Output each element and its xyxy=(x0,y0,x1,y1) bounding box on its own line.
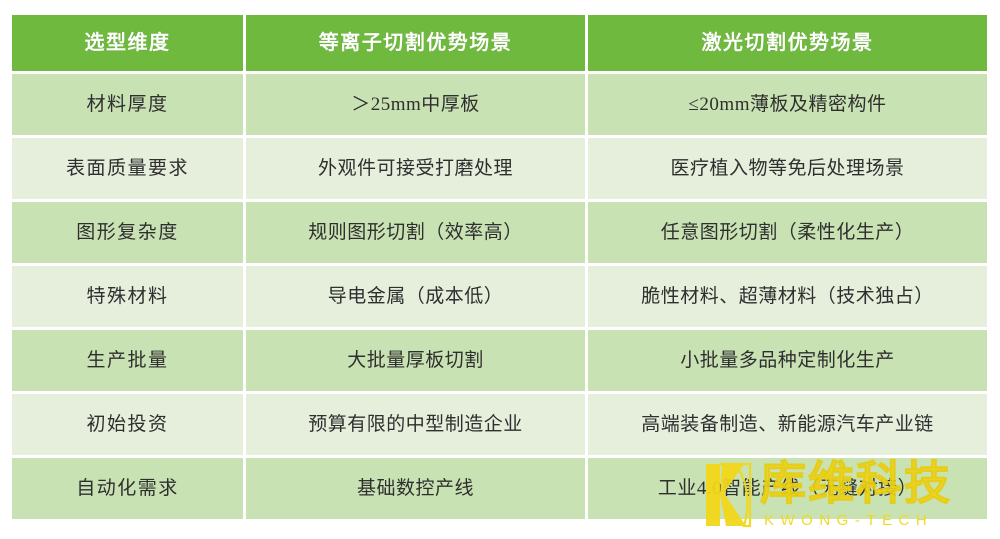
cell-plasma: 导电金属（成本低） xyxy=(246,266,585,327)
table-body: 材料厚度 ＞25mm中厚板 ≤20mm薄板及精密构件 表面质量要求 外观件可接受… xyxy=(12,74,987,519)
cell-plasma: 规则图形切割（效率高） xyxy=(246,202,585,263)
table-header: 选型维度 等离子切割优势场景 激光切割优势场景 xyxy=(12,15,987,71)
cell-dimension: 自动化需求 xyxy=(12,458,243,519)
cell-plasma: 基础数控产线 xyxy=(246,458,585,519)
cell-plasma: 预算有限的中型制造企业 xyxy=(246,394,585,455)
column-header-dimension: 选型维度 xyxy=(12,15,243,71)
table-row: 初始投资 预算有限的中型制造企业 高端装备制造、新能源汽车产业链 xyxy=(12,394,987,455)
table-row: 材料厚度 ＞25mm中厚板 ≤20mm薄板及精密构件 xyxy=(12,74,987,135)
cell-plasma: 外观件可接受打磨处理 xyxy=(246,138,585,199)
table-row: 自动化需求 基础数控产线 工业4.0智能产线（无缝对接） xyxy=(12,458,987,519)
cell-plasma: 大批量厚板切割 xyxy=(246,330,585,391)
cell-laser: 高端装备制造、新能源汽车产业链 xyxy=(588,394,987,455)
cell-dimension: 初始投资 xyxy=(12,394,243,455)
cell-laser: 工业4.0智能产线（无缝对接） xyxy=(588,458,987,519)
table-row: 生产批量 大批量厚板切割 小批量多品种定制化生产 xyxy=(12,330,987,391)
cell-plasma: ＞25mm中厚板 xyxy=(246,74,585,135)
table-row: 表面质量要求 外观件可接受打磨处理 医疗植入物等免后处理场景 xyxy=(12,138,987,199)
table-row: 特殊材料 导电金属（成本低） 脆性材料、超薄材料（技术独占） xyxy=(12,266,987,327)
cell-laser: 任意图形切割（柔性化生产） xyxy=(588,202,987,263)
cell-laser: 脆性材料、超薄材料（技术独占） xyxy=(588,266,987,327)
cell-dimension: 表面质量要求 xyxy=(12,138,243,199)
table-header-row: 选型维度 等离子切割优势场景 激光切割优势场景 xyxy=(12,15,987,71)
cell-dimension: 生产批量 xyxy=(12,330,243,391)
column-header-plasma: 等离子切割优势场景 xyxy=(246,15,585,71)
column-header-laser: 激光切割优势场景 xyxy=(588,15,987,71)
cell-dimension: 材料厚度 xyxy=(12,74,243,135)
cell-laser: ≤20mm薄板及精密构件 xyxy=(588,74,987,135)
selection-comparison-table: 选型维度 等离子切割优势场景 激光切割优势场景 材料厚度 ＞25mm中厚板 ≤2… xyxy=(9,12,990,522)
table-row: 图形复杂度 规则图形切割（效率高） 任意图形切割（柔性化生产） xyxy=(12,202,987,263)
comparison-table-page: 选型维度 等离子切割优势场景 激光切割优势场景 材料厚度 ＞25mm中厚板 ≤2… xyxy=(0,0,1000,539)
cell-dimension: 特殊材料 xyxy=(12,266,243,327)
cell-dimension: 图形复杂度 xyxy=(12,202,243,263)
cell-laser: 小批量多品种定制化生产 xyxy=(588,330,987,391)
cell-laser: 医疗植入物等免后处理场景 xyxy=(588,138,987,199)
